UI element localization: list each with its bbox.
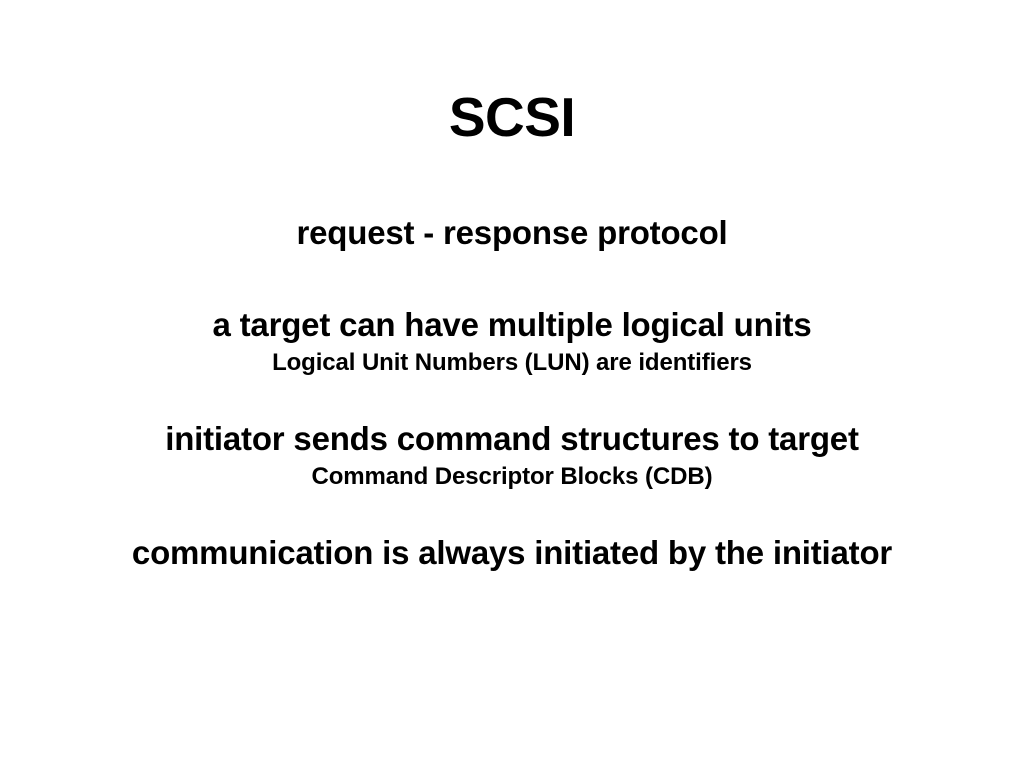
presentation-slide: SCSI request - response protocol a targe… [0,0,1024,768]
content-block-command-structures: initiator sends command structures to ta… [0,420,1024,491]
content-block-logical-units: a target can have multiple logical units… [0,306,1024,377]
content-block-request-response: request - response protocol [0,214,1024,252]
content-line-sub: Logical Unit Numbers (LUN) are identifie… [0,348,1024,377]
content-line-main: initiator sends command structures to ta… [0,420,1024,458]
content-line-sub: Command Descriptor Blocks (CDB) [0,462,1024,491]
content-line-main: a target can have multiple logical units [0,306,1024,344]
content-block-communication-initiator: communication is always initiated by the… [0,534,1024,572]
page-title: SCSI [0,86,1024,148]
content-line-main: request - response protocol [0,214,1024,252]
content-line-main: communication is always initiated by the… [0,534,1024,572]
